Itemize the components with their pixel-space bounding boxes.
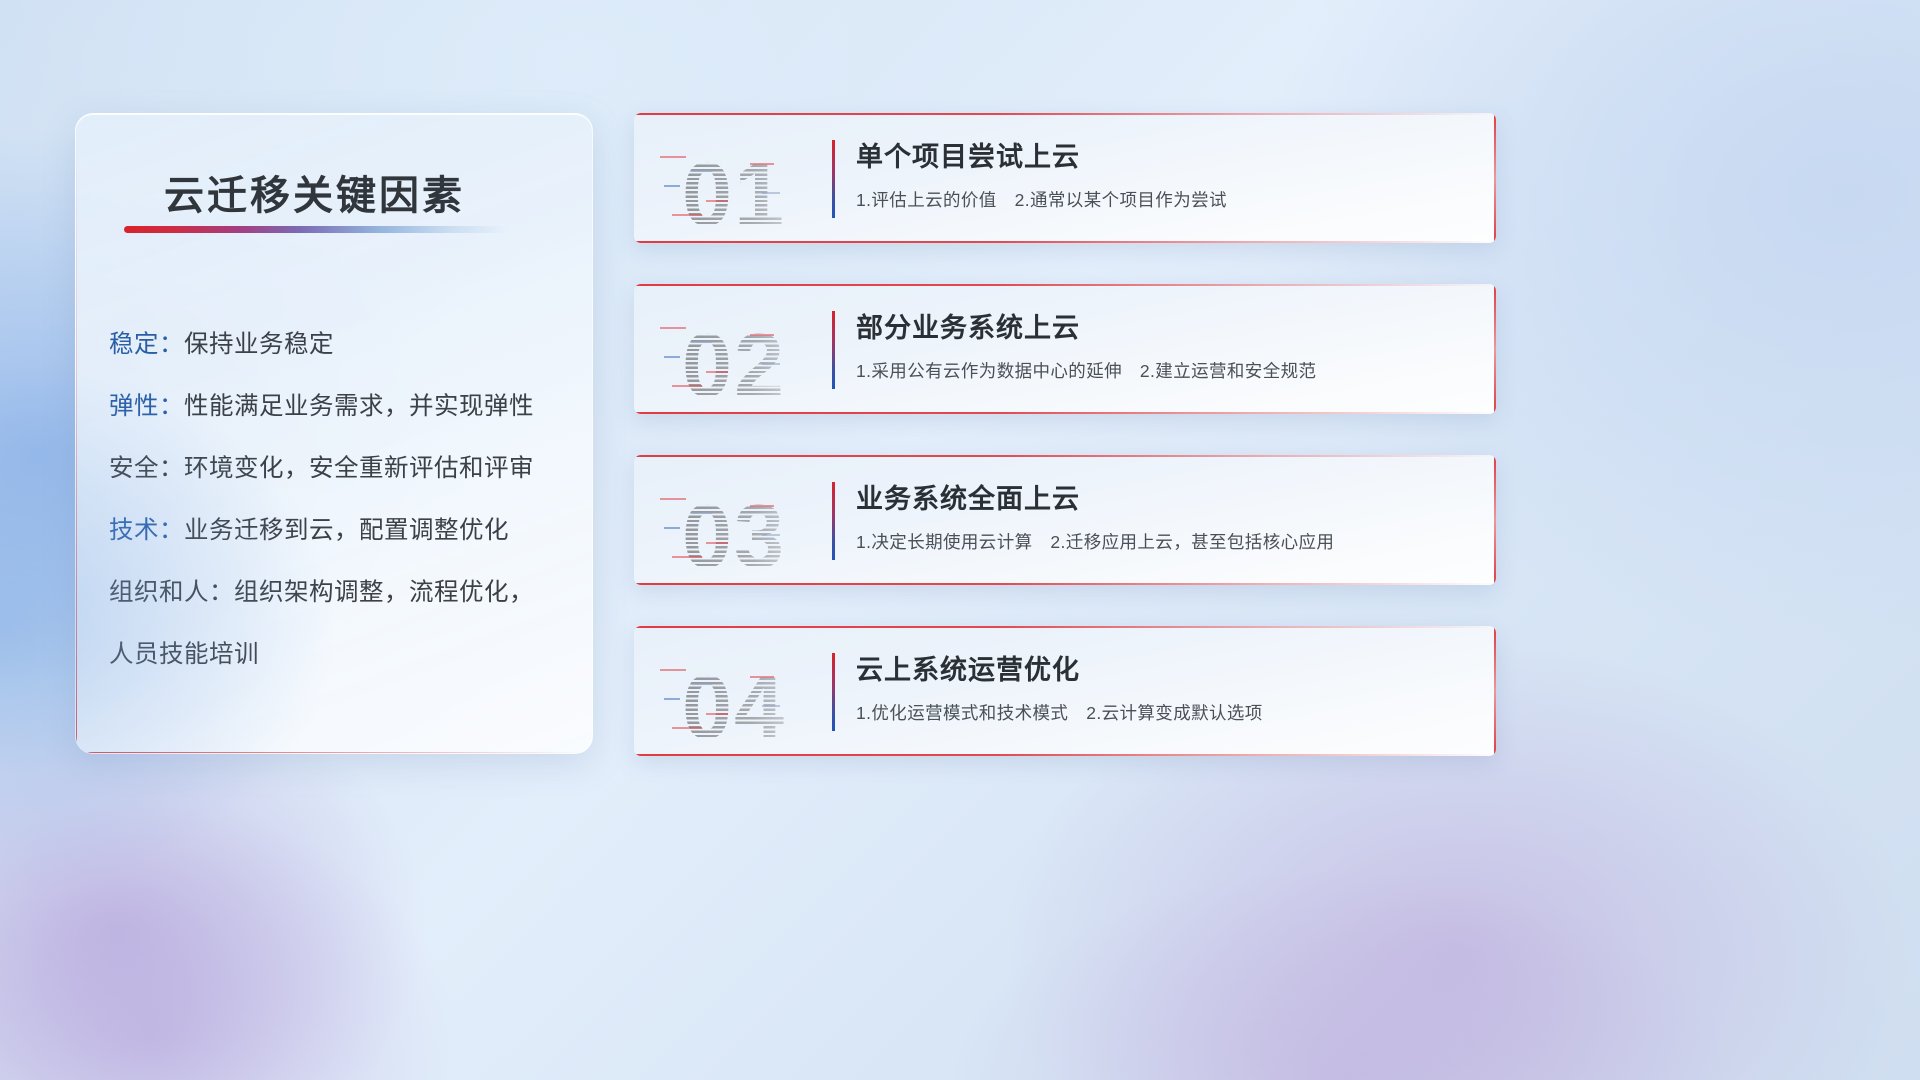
factor-label: 稳定：: [109, 331, 184, 358]
stage-card[interactable]: 04云上系统运营优化1.优化运营模式和技术模式 2.云计算变成默认选项: [634, 626, 1496, 756]
card-number: 04: [682, 660, 842, 756]
factor-text: 性能满足业务需求，并实现弹性: [184, 393, 534, 420]
factor-text: 保持业务稳定: [184, 331, 334, 358]
card-divider-bar: [832, 140, 835, 218]
numeral-glitch-tick: [692, 512, 712, 514]
factor-text: 业务迁移到云，配置调整优化: [184, 517, 509, 544]
card-number: 01: [682, 147, 842, 243]
numeral-glitch-tick: [762, 534, 780, 536]
numeral-glitch-tick: [762, 363, 780, 365]
numeral-glitch-tick: [664, 356, 680, 358]
numeral-glitch-tick: [660, 498, 686, 500]
numeral-glitch-tick: [664, 185, 680, 187]
card-right-accent-line: [1494, 626, 1496, 756]
card-number-decoration: 03: [658, 472, 828, 568]
page-title: 云迁移关键因素: [164, 163, 465, 221]
factor-line: 弹性：性能满足业务需求，并实现弹性: [109, 376, 568, 438]
factor-line: 技术：业务迁移到云，配置调整优化: [109, 500, 568, 562]
numeral-glitch-tick: [750, 505, 774, 507]
stage-card-list: 01单个项目尝试上云1.评估上云的价值 2.通常以某个项目作为尝试02部分业务系…: [634, 113, 1496, 797]
numeral-glitch-tick: [660, 156, 686, 158]
numeral-glitch-tick: [660, 327, 686, 329]
card-right-accent-line: [1494, 455, 1496, 585]
card-divider-bar: [832, 482, 835, 560]
numeral-glitch-tick: [660, 669, 686, 671]
card-number-decoration: 01: [658, 130, 828, 226]
numeral-glitch-tick: [664, 527, 680, 529]
factor-label: 组织和人：: [109, 579, 234, 606]
factor-label: 弹性：: [109, 393, 184, 420]
stage-card[interactable]: 01单个项目尝试上云1.评估上云的价值 2.通常以某个项目作为尝试: [634, 113, 1496, 243]
numeral-glitch-tick: [750, 334, 774, 336]
card-title: 云上系统运营优化: [856, 648, 1080, 687]
card-divider-bar: [832, 311, 835, 389]
card-top-accent-line: [634, 284, 1496, 286]
card-top-accent-line: [634, 626, 1496, 628]
card-subtitle: 1.决定长期使用云计算 2.迁移应用上云，甚至包括核心应用: [856, 529, 1334, 554]
card-subtitle: 1.评估上云的价值 2.通常以某个项目作为尝试: [856, 187, 1227, 212]
card-number: 03: [682, 489, 842, 585]
stage-card[interactable]: 03业务系统全面上云1.决定长期使用云计算 2.迁移应用上云，甚至包括核心应用: [634, 455, 1496, 585]
title-underline-rule: [124, 226, 508, 233]
numeral-glitch-tick: [672, 727, 702, 729]
numeral-glitch-tick: [692, 170, 712, 172]
numeral-glitch-tick: [706, 371, 728, 373]
factor-line: 组织和人：组织架构调整，流程优化，: [109, 562, 568, 624]
card-subtitle: 1.优化运营模式和技术模式 2.云计算变成默认选项: [856, 700, 1263, 725]
card-top-accent-line: [634, 113, 1496, 115]
factor-line: 稳定：保持业务稳定: [109, 314, 568, 376]
numeral-glitch-tick: [672, 556, 702, 558]
card-top-accent-line: [634, 455, 1496, 457]
numeral-glitch-tick: [706, 200, 728, 202]
slide-canvas: 云迁移关键因素 稳定：保持业务稳定弹性：性能满足业务需求，并实现弹性安全：环境变…: [0, 0, 1920, 1080]
numeral-glitch-tick: [672, 214, 702, 216]
numeral-glitch-tick: [664, 698, 680, 700]
card-title: 部分业务系统上云: [856, 306, 1080, 345]
card-divider-bar: [832, 653, 835, 731]
key-factors-panel: 云迁移关键因素 稳定：保持业务稳定弹性：性能满足业务需求，并实现弹性安全：环境变…: [75, 113, 593, 754]
factor-list: 稳定：保持业务稳定弹性：性能满足业务需求，并实现弹性安全：环境变化，安全重新评估…: [109, 314, 568, 686]
numeral-glitch-tick: [750, 163, 774, 165]
factor-text: 组织架构调整，流程优化，: [234, 579, 534, 606]
numeral-glitch-tick: [692, 683, 712, 685]
numeral-glitch-tick: [762, 192, 780, 194]
card-title: 单个项目尝试上云: [856, 135, 1080, 174]
factor-label: 技术：: [109, 517, 184, 544]
numeral-glitch-tick: [750, 676, 774, 678]
numeral-glitch-tick: [706, 713, 728, 715]
numeral-glitch-tick: [692, 341, 712, 343]
card-title: 业务系统全面上云: [856, 477, 1080, 516]
numeral-glitch-tick: [706, 542, 728, 544]
stage-card[interactable]: 02部分业务系统上云1.采用公有云作为数据中心的延伸 2.建立运营和安全规范: [634, 284, 1496, 414]
card-number-decoration: 04: [658, 643, 828, 739]
factor-line: 安全：环境变化，安全重新评估和评审: [109, 438, 568, 500]
factor-label: 安全：: [109, 455, 184, 482]
factor-line: 人员技能培训: [109, 624, 568, 686]
card-right-accent-line: [1494, 284, 1496, 414]
numeral-glitch-tick: [762, 705, 780, 707]
card-right-accent-line: [1494, 113, 1496, 243]
card-subtitle: 1.采用公有云作为数据中心的延伸 2.建立运营和安全规范: [856, 358, 1316, 383]
card-number: 02: [682, 318, 842, 414]
card-number-decoration: 02: [658, 301, 828, 397]
factor-text: 人员技能培训: [109, 641, 259, 668]
numeral-glitch-tick: [672, 385, 702, 387]
factor-text: 环境变化，安全重新评估和评审: [184, 455, 534, 482]
